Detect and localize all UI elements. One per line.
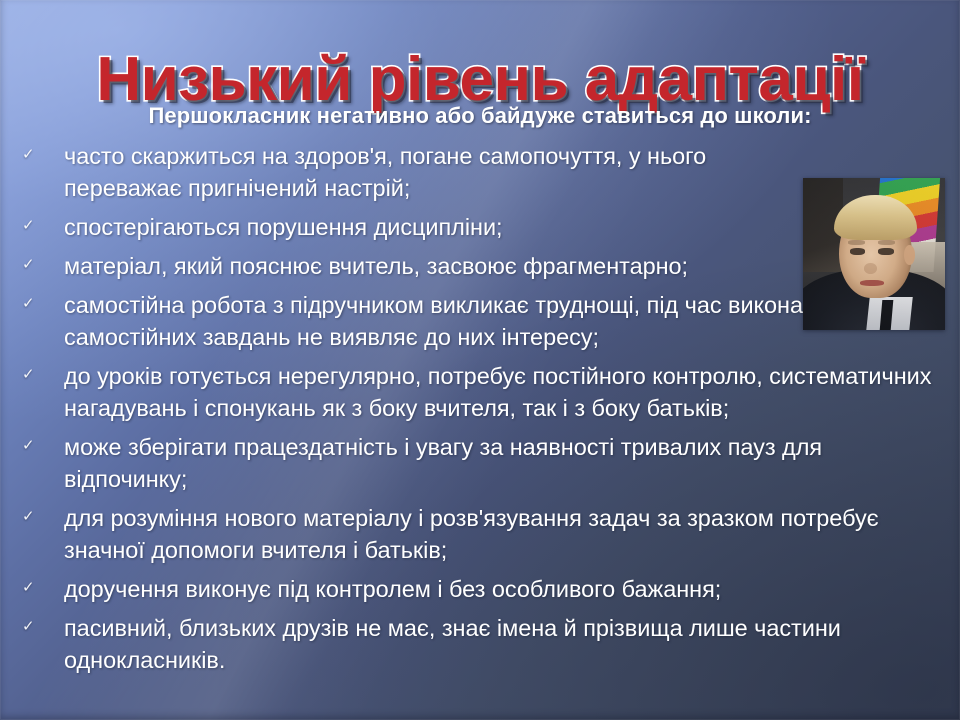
list-item: ✓ до уроків готується нерегулярно, потре… bbox=[0, 360, 960, 424]
check-icon: ✓ bbox=[22, 140, 48, 170]
list-item: ✓ пасивний, близьких друзів не має, знає… bbox=[0, 612, 960, 676]
check-icon: ✓ bbox=[22, 211, 48, 241]
subtitle: Першокласник негативно або байдуже стави… bbox=[0, 103, 960, 129]
check-icon: ✓ bbox=[22, 612, 48, 642]
list-item: ✓ для розуміння нового матеріалу і розв'… bbox=[0, 502, 960, 566]
list-item-label: для розуміння нового матеріалу і розв'яз… bbox=[48, 502, 948, 566]
check-icon: ✓ bbox=[22, 289, 48, 319]
check-icon: ✓ bbox=[22, 502, 48, 532]
list-item: ✓ доручення виконує під контролем і без … bbox=[0, 573, 960, 605]
check-icon: ✓ bbox=[22, 431, 48, 461]
list-item-label: до уроків готується нерегулярно, потребу… bbox=[48, 360, 948, 424]
check-icon: ✓ bbox=[22, 250, 48, 280]
list-item-label: може зберігати працездатність і увагу за… bbox=[48, 431, 948, 495]
list-item-label: пасивний, близьких друзів не має, знає і… bbox=[48, 612, 948, 676]
check-icon: ✓ bbox=[22, 360, 48, 390]
student-photo bbox=[803, 178, 945, 330]
slide: Низький рівень адаптації Першокласник не… bbox=[0, 0, 960, 720]
photo-grain-overlay bbox=[803, 178, 945, 330]
list-item: ✓ може зберігати працездатність і увагу … bbox=[0, 431, 960, 495]
check-icon: ✓ bbox=[22, 573, 48, 603]
list-item-label: доручення виконує під контролем і без ос… bbox=[48, 573, 948, 605]
